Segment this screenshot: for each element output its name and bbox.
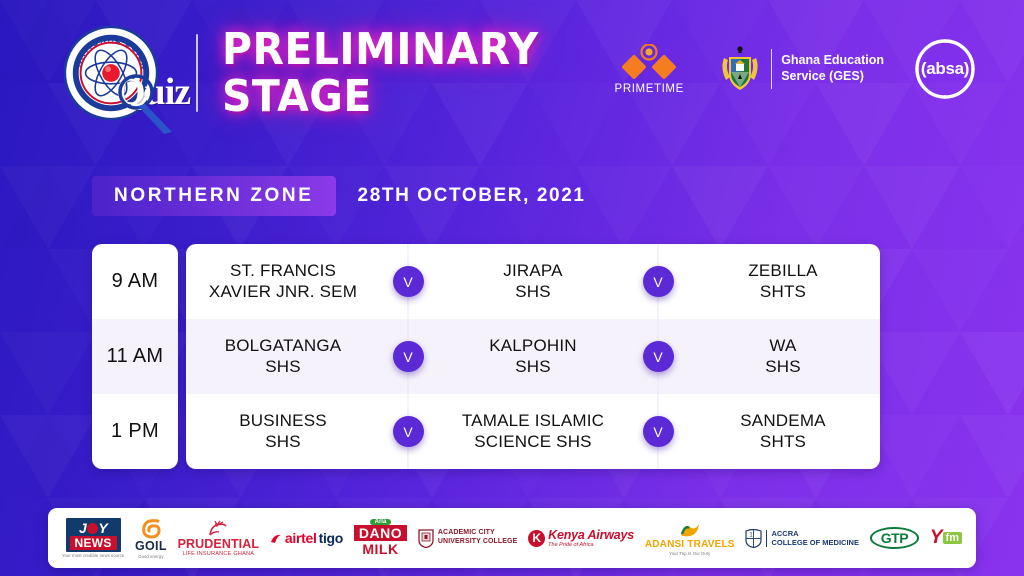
table-row: BUSINESS SHS V TAMALE ISLAMIC SCIENCE SH…	[186, 394, 880, 469]
academic-city-logo: ACADEMIC CITY UNIVERSITY COLLEGE	[418, 529, 517, 548]
team-line-2: SHTS	[686, 432, 880, 453]
time-cell: 9 AM	[92, 244, 178, 319]
versus-badge: V	[643, 266, 674, 297]
academic-city-label: ACADEMIC CITY UNIVERSITY COLLEGE	[438, 529, 517, 547]
team-line-1: ZEBILLA	[686, 261, 880, 282]
adansi-tagline: Your Trip Is Our Duty	[669, 551, 710, 556]
globe-icon	[87, 523, 98, 534]
table-row: ST. FRANCIS XAVIER JNR. SEM V JIRAPA SHS…	[186, 244, 880, 319]
academic-city-crest-icon	[418, 529, 434, 548]
sponsor-airteltigo: airtel tigo	[270, 530, 343, 546]
time-label: 1 PM	[111, 420, 159, 443]
team-line-1: KALPOHIN	[436, 336, 630, 357]
time-label: 11 AM	[107, 345, 164, 368]
dano-label: DANO	[354, 525, 407, 541]
gtp-label: GTP	[870, 527, 919, 549]
team-line-1: ST. FRANCIS	[186, 261, 380, 282]
team-name: BOLGATANGA SHS	[186, 336, 380, 377]
sponsor-yfm: Y fm	[930, 527, 962, 549]
yfm-logo: Y fm	[930, 527, 962, 549]
versus-separator: V	[630, 319, 686, 394]
joy-news-label: NEWS	[70, 536, 117, 550]
accra-medicine-divider	[766, 530, 767, 547]
sponsor-bar: J Y NEWS Your most credible news source …	[48, 508, 976, 568]
team-line-1: TAMALE ISLAMIC	[436, 411, 630, 432]
time-label: 9 AM	[112, 270, 159, 293]
kenya-airways-k-icon: K	[528, 530, 545, 547]
team-line-2: SHS	[186, 357, 380, 378]
joy-tagline: Your most credible news source	[62, 553, 124, 558]
airtel-swirl-icon	[270, 532, 283, 545]
yfm-letter-y: Y	[930, 527, 943, 549]
sponsor-prudential: PRUDENTIAL LIFE INSURANCE GHANA	[178, 520, 260, 557]
time-column: 9 AM 11 AM 1 PM	[92, 244, 178, 469]
airtel-label: airtel	[285, 530, 317, 546]
versus-separator: V	[380, 244, 436, 319]
team-line-2: SHS	[436, 357, 630, 378]
primetime-label: PRIMETIME	[615, 83, 684, 95]
team-name: SANDEMA SHTS	[686, 411, 880, 452]
team-line-2: SCIENCE SHS	[436, 432, 630, 453]
absa-logo: (absa)	[914, 38, 976, 100]
versus-badge: V	[643, 416, 674, 447]
team-line-2: SHS	[686, 357, 880, 378]
time-cell: 11 AM	[92, 319, 178, 394]
absa-label: (absa)	[914, 38, 976, 100]
milk-label: MILK	[362, 541, 398, 557]
tigo-label: tigo	[319, 530, 343, 546]
kenya-airways-text: Kenya Airways The Pride of Africa	[548, 528, 634, 548]
goil-label: GOIL	[135, 539, 167, 553]
sponsor-gtp: GTP	[870, 527, 919, 549]
versus-separator: V	[630, 394, 686, 469]
team-line-2: SHS	[436, 282, 630, 303]
team-line-1: SANDEMA	[686, 411, 880, 432]
event-date: 28TH OCTOBER, 2021	[358, 185, 586, 207]
ges-label: Ghana Education Service (GES)	[781, 53, 884, 84]
accra-medicine-label: ACCRA COLLEGE OF MEDICINE	[771, 529, 859, 548]
team-name: ZEBILLA SHTS	[686, 261, 880, 302]
ges-logo: Ghana Education Service (GES)	[718, 44, 884, 94]
time-cell: 1 PM	[92, 394, 178, 469]
accra-medicine-line-1: ACCRA	[771, 529, 859, 538]
sponsor-kenya-airways: K Kenya Airways The Pride of Africa	[528, 528, 634, 548]
prudential-label: PRUDENTIAL	[178, 537, 260, 551]
table-row: BOLGATANGA SHS V KALPOHIN SHS V WA SHS	[186, 319, 880, 394]
accra-medicine-crest-icon: 1	[745, 528, 762, 548]
ges-label-line-1: Ghana Education	[781, 53, 884, 69]
sponsor-goil: GOIL Good energy	[135, 517, 167, 559]
joy-letter-j: J	[79, 520, 86, 536]
header-divider	[196, 34, 198, 112]
ghana-coat-of-arms-icon	[718, 44, 762, 94]
goil-tagline: Good energy	[138, 554, 163, 559]
zone-bar: NORTHERN ZONE 28TH OCTOBER, 2021	[92, 176, 586, 216]
prudential-sub-label: LIFE INSURANCE GHANA	[182, 551, 254, 557]
kenya-airways-slogan: The Pride of Africa	[548, 542, 634, 548]
team-name: JIRAPA SHS	[436, 261, 630, 302]
yfm-label: fm	[943, 532, 962, 544]
team-line-1: BOLGATANGA	[186, 336, 380, 357]
team-line-2: XAVIER JNR. SEM	[186, 282, 380, 303]
versus-badge: V	[643, 341, 674, 372]
ges-label-line-2: Service (GES)	[781, 69, 884, 85]
header: NATIONAL SCIENCE & MATHS Quiz PRELIMINAR…	[0, 0, 1024, 140]
joy-news-logo: J Y NEWS	[66, 518, 121, 552]
team-name: BUSINESS SHS	[186, 411, 380, 452]
versus-separator: V	[630, 244, 686, 319]
team-name: WA SHS	[686, 336, 880, 377]
prudential-figure-icon	[205, 520, 231, 537]
sponsor-joy-news: J Y NEWS Your most credible news source	[62, 518, 124, 558]
versus-badge: V	[393, 266, 424, 297]
kenya-airways-logo: K Kenya Airways The Pride of Africa	[528, 528, 634, 548]
kenya-airways-label: Kenya Airways	[548, 528, 634, 542]
team-line-1: JIRAPA	[436, 261, 630, 282]
title-line-1: PRELIMINARY	[222, 28, 539, 71]
sponsor-academic-city: ACADEMIC CITY UNIVERSITY COLLEGE	[418, 529, 517, 548]
ges-divider	[771, 49, 772, 89]
nsmq-logo: NATIONAL SCIENCE & MATHS Quiz	[62, 24, 182, 124]
team-name: TAMALE ISLAMIC SCIENCE SHS	[436, 411, 630, 452]
title-line-2: STAGE	[222, 75, 539, 118]
team-line-1: BUSINESS	[186, 411, 380, 432]
team-line-2: SHS	[186, 432, 380, 453]
adansi-label: ADANSI TRAVELS	[645, 539, 735, 550]
joy-letter-y: Y	[98, 520, 107, 536]
matches-column: ST. FRANCIS XAVIER JNR. SEM V JIRAPA SHS…	[186, 244, 880, 469]
accra-medicine-logo: 1 ACCRA COLLEGE OF MEDICINE	[745, 528, 859, 548]
sponsor-adansi-travels: ADANSI TRAVELS Your Trip Is Our Duty	[645, 521, 735, 556]
adansi-bird-icon	[679, 521, 701, 539]
versus-separator: V	[380, 319, 436, 394]
goil-flame-icon	[140, 517, 162, 539]
team-name: KALPOHIN SHS	[436, 336, 630, 377]
sponsor-accra-college-medicine: 1 ACCRA COLLEGE OF MEDICINE	[745, 528, 859, 548]
versus-separator: V	[380, 394, 436, 469]
schedule-table: 9 AM 11 AM 1 PM ST. FRANCIS XAVIER JNR. …	[92, 244, 880, 469]
zone-badge: NORTHERN ZONE	[92, 176, 336, 216]
primetime-logo: PRIMETIME	[610, 44, 688, 95]
magnifier-icon	[114, 72, 178, 134]
versus-badge: V	[393, 341, 424, 372]
top-sponsor-logos: PRIMETIME Ghana Education Service (GE	[610, 38, 976, 100]
airteltigo-logo: airtel tigo	[270, 530, 343, 546]
primetime-mark-icon	[613, 44, 685, 80]
academic-city-line-1: ACADEMIC CITY	[438, 529, 517, 538]
team-line-1: WA	[686, 336, 880, 357]
sponsor-dano-milk: Arla DANO MILK	[354, 519, 407, 557]
accra-medicine-line-2: COLLEGE OF MEDICINE	[771, 538, 859, 547]
academic-city-line-2: UNIVERSITY COLLEGE	[438, 538, 517, 547]
versus-badge: V	[393, 416, 424, 447]
team-line-2: SHTS	[686, 282, 880, 303]
team-name: ST. FRANCIS XAVIER JNR. SEM	[186, 261, 380, 302]
joy-top-row: J Y	[70, 520, 117, 536]
page-title: PRELIMINARY STAGE	[222, 28, 562, 118]
